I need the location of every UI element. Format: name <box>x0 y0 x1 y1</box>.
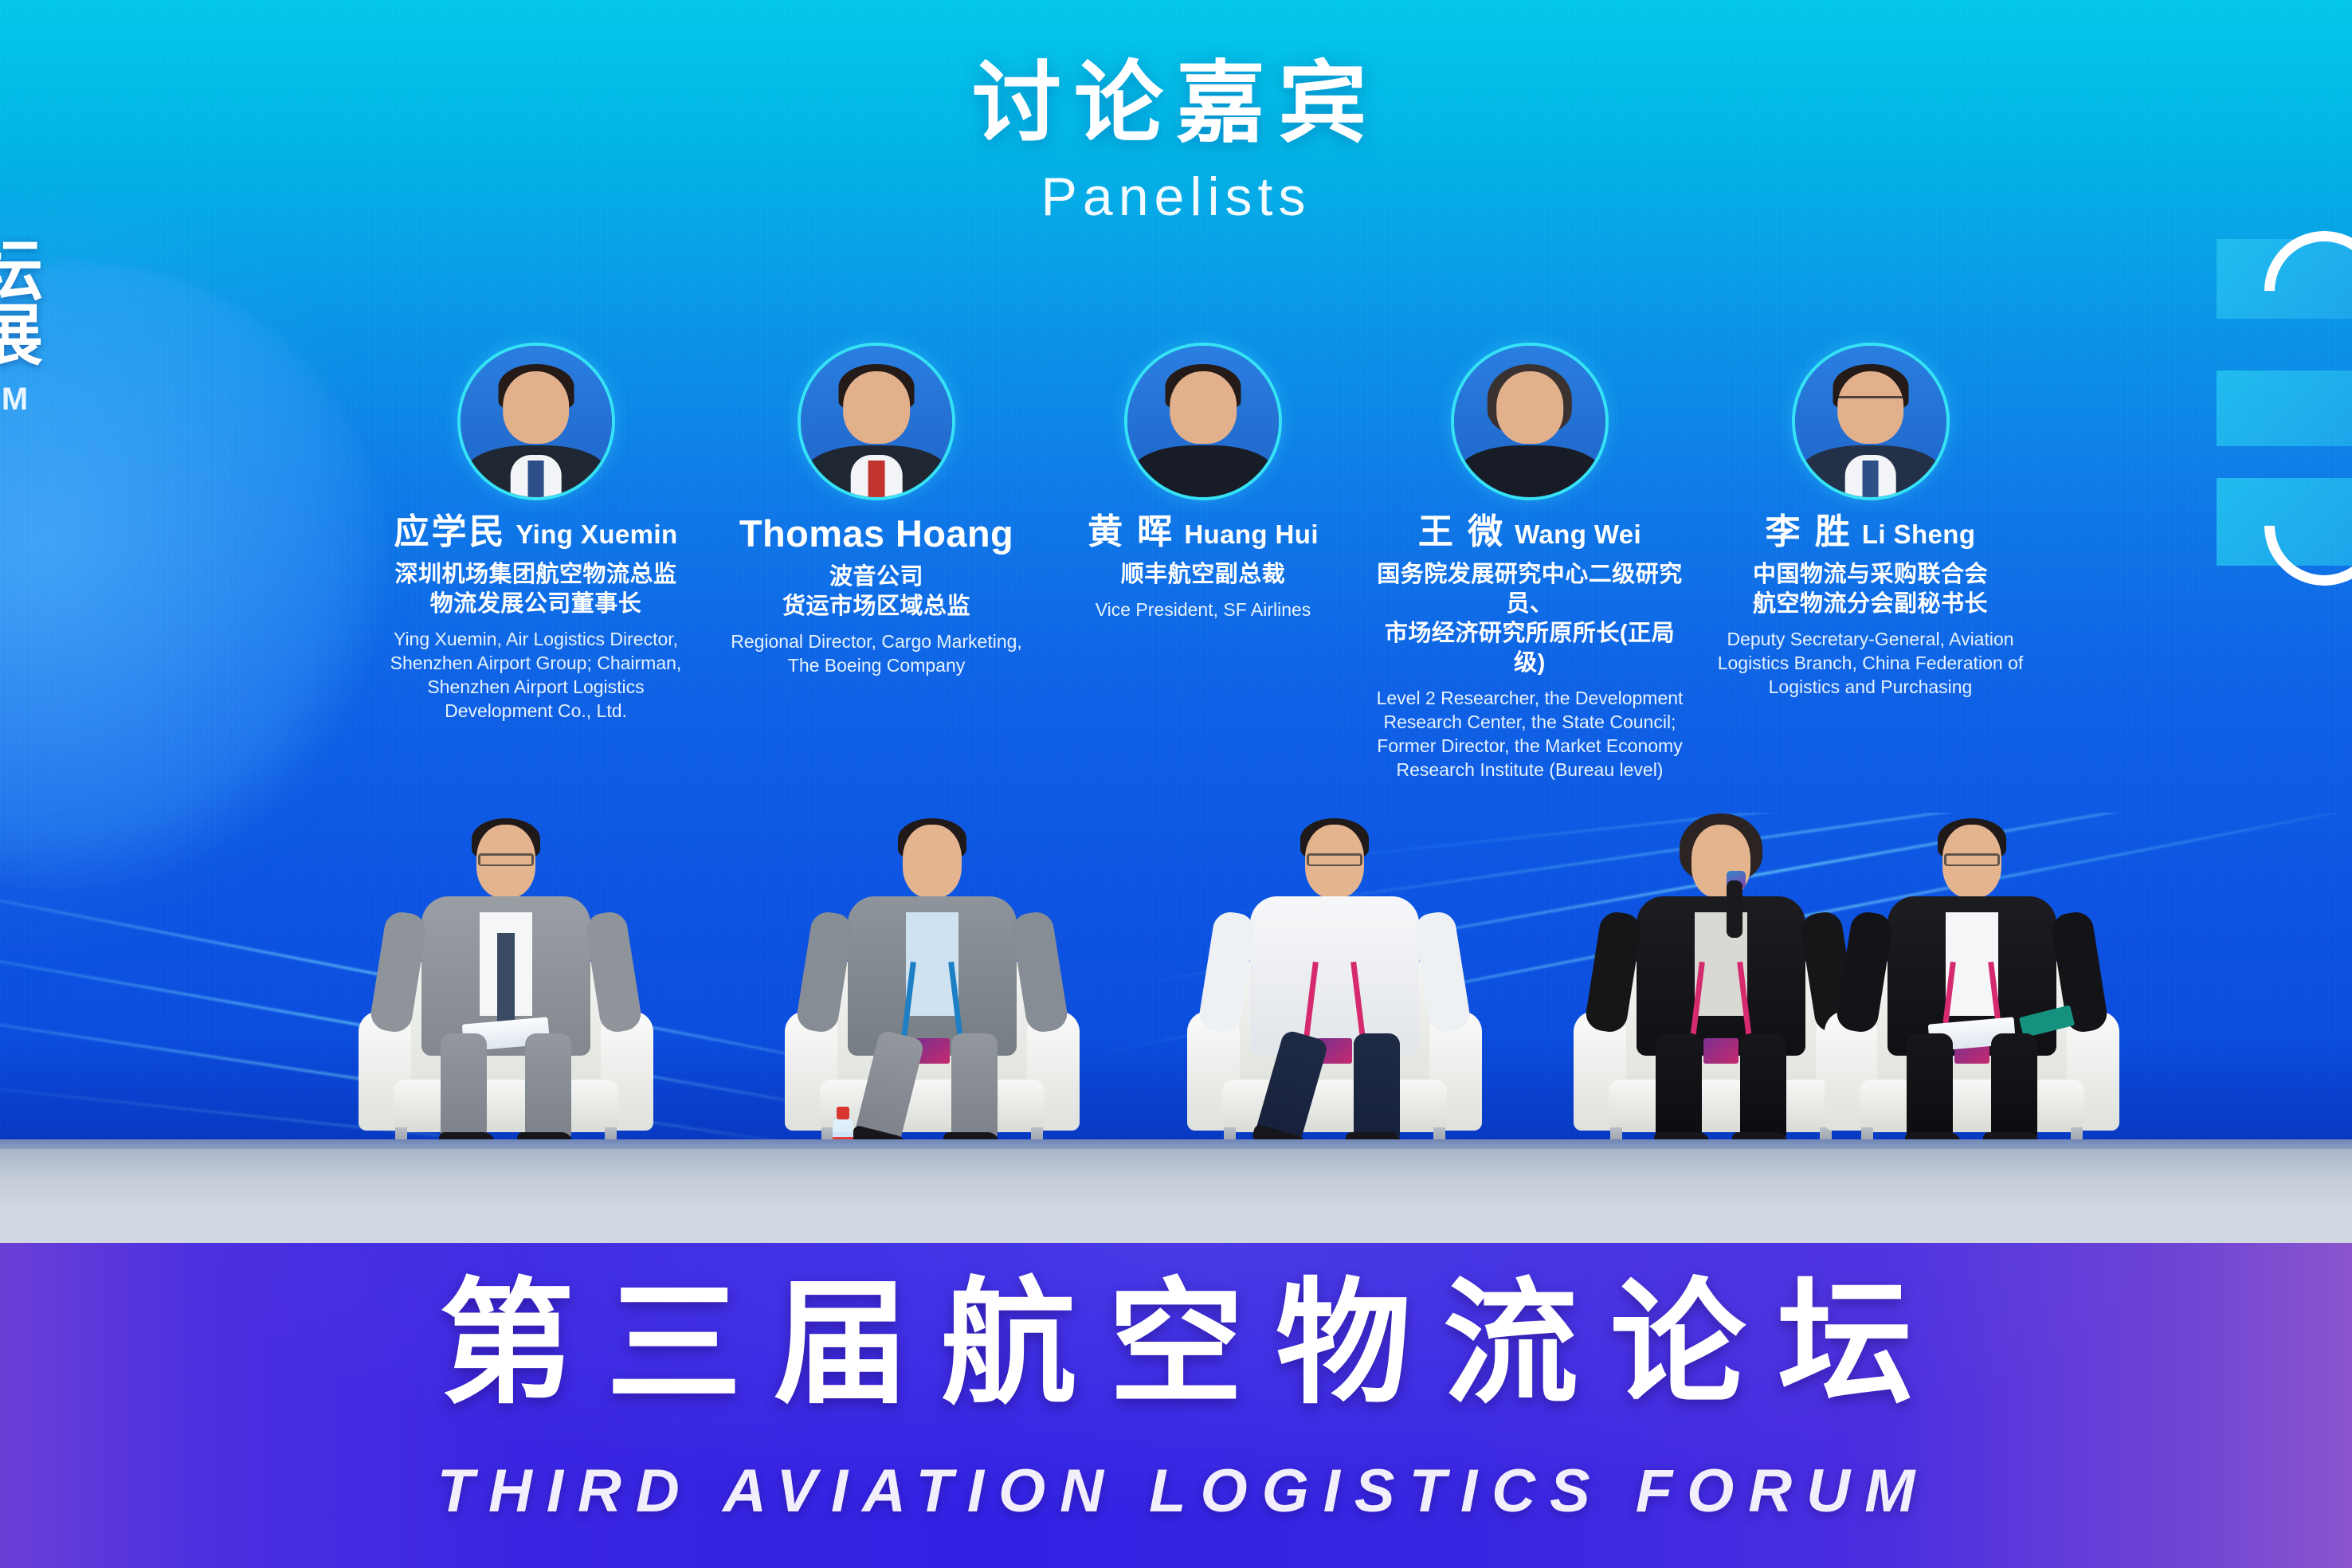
panelist-card: 王 微Wang Wei 国务院发展研究中心二级研究员、 市场经济研究所原所长(正… <box>1377 343 1684 782</box>
seated-panelist <box>1825 793 2119 1167</box>
seated-panelist <box>785 793 1080 1167</box>
panelist-title-cn: 深圳机场集团航空物流总监 物流发展公司董事长 <box>382 560 689 619</box>
panelist-name: Thomas Hoang <box>723 515 1030 552</box>
panelist-title-cn: 顺丰航空副总裁 <box>1064 560 1343 590</box>
panelist-name-en: Thomas Hoang <box>739 512 1013 555</box>
left-partial-en-text: UM <box>0 382 45 417</box>
panelist-title-cn: 国务院发展研究中心二级研究员、 市场经济研究所原所长(正局级) <box>1377 560 1684 678</box>
panelist-card: 应学民Ying Xuemin 深圳机场集团航空物流总监 物流发展公司董事长 Yi… <box>382 343 689 723</box>
avatar <box>1124 343 1282 500</box>
panelist-title-en: Vice President, SF Airlines <box>1064 598 1343 622</box>
panelist-card: Thomas Hoang 波音公司 货运市场区域总监 Regional Dire… <box>723 343 1030 678</box>
person-figure <box>1187 801 1482 1151</box>
stage-floor <box>0 1149 2352 1252</box>
panelist-name-en: Wang Wei <box>1515 519 1641 549</box>
avatar <box>1451 343 1609 500</box>
panelist-card: 李 胜Li Sheng 中国物流与采购联合会 航空物流分会副秘书长 Deputy… <box>1717 343 2024 700</box>
person-figure <box>785 801 1080 1151</box>
panelist-title-cn: 中国物流与采购联合会 航空物流分会副秘书长 <box>1717 560 2024 619</box>
deco-square-icon <box>2217 370 2352 446</box>
panelist-name-cn: 李 胜 <box>1766 512 1852 551</box>
left-partial-cn-text: 坛展 <box>0 239 45 367</box>
panelist-title-en: Regional Director, Cargo Marketing, The … <box>723 630 1030 678</box>
right-decorative-graphic <box>2081 239 2352 574</box>
slide-title-en: Panelists <box>0 166 2352 228</box>
panelist-name: 王 微Wang Wei <box>1377 515 1684 550</box>
panelist-name-en: Ying Xuemin <box>515 519 677 549</box>
person-figure <box>1825 801 2119 1151</box>
person-figure <box>359 801 653 1151</box>
avatar <box>1792 343 1950 500</box>
left-partial-graphic: 坛展 UM <box>0 239 45 417</box>
conference-panel-photo: 坛展 UM 讨论嘉宾 Panelists 应学民 <box>0 0 2352 1568</box>
panelist-name: 黄 晖Huang Hui <box>1064 515 1343 550</box>
banner-title-cn: 第三届航空物流论坛 <box>0 1276 2352 1412</box>
panelist-card: 黄 晖Huang Hui 顺丰航空副总裁 Vice President, SF … <box>1064 343 1343 622</box>
panelist-card-list: 应学民Ying Xuemin 深圳机场集团航空物流总监 物流发展公司董事长 Yi… <box>382 343 2024 782</box>
panelist-name: 应学民Ying Xuemin <box>382 515 689 550</box>
panelist-name-cn: 王 微 <box>1418 512 1505 551</box>
panelist-name-cn: 黄 晖 <box>1088 512 1174 551</box>
panelist-name: 李 胜Li Sheng <box>1717 515 2024 550</box>
panelist-name-en: Huang Hui <box>1184 519 1319 549</box>
seated-panelist <box>359 793 653 1167</box>
panelist-title-cn: 波音公司 货运市场区域总监 <box>723 563 1030 621</box>
panelist-name-en: Li Sheng <box>1862 519 1976 549</box>
slide-title: 讨论嘉宾 Panelists <box>0 59 2352 228</box>
panelist-name-cn: 应学民 <box>394 512 506 551</box>
seated-panelist <box>1187 793 1482 1167</box>
avatar <box>798 343 955 500</box>
banner-title-en: THIRD AVIATION LOGISTICS FORUM <box>0 1456 2352 1526</box>
slide-title-cn: 讨论嘉宾 <box>0 59 2352 148</box>
forum-banner: 第三届航空物流论坛 THIRD AVIATION LOGISTICS FORUM <box>0 1243 2352 1568</box>
avatar <box>457 343 615 500</box>
panelist-title-en: Deputy Secretary-General, Aviation Logis… <box>1717 628 2024 700</box>
panelist-title-en: Ying Xuemin, Air Logistics Director, She… <box>382 628 689 723</box>
seated-panel-row <box>0 721 2352 1167</box>
microphone-icon <box>1727 880 1742 938</box>
